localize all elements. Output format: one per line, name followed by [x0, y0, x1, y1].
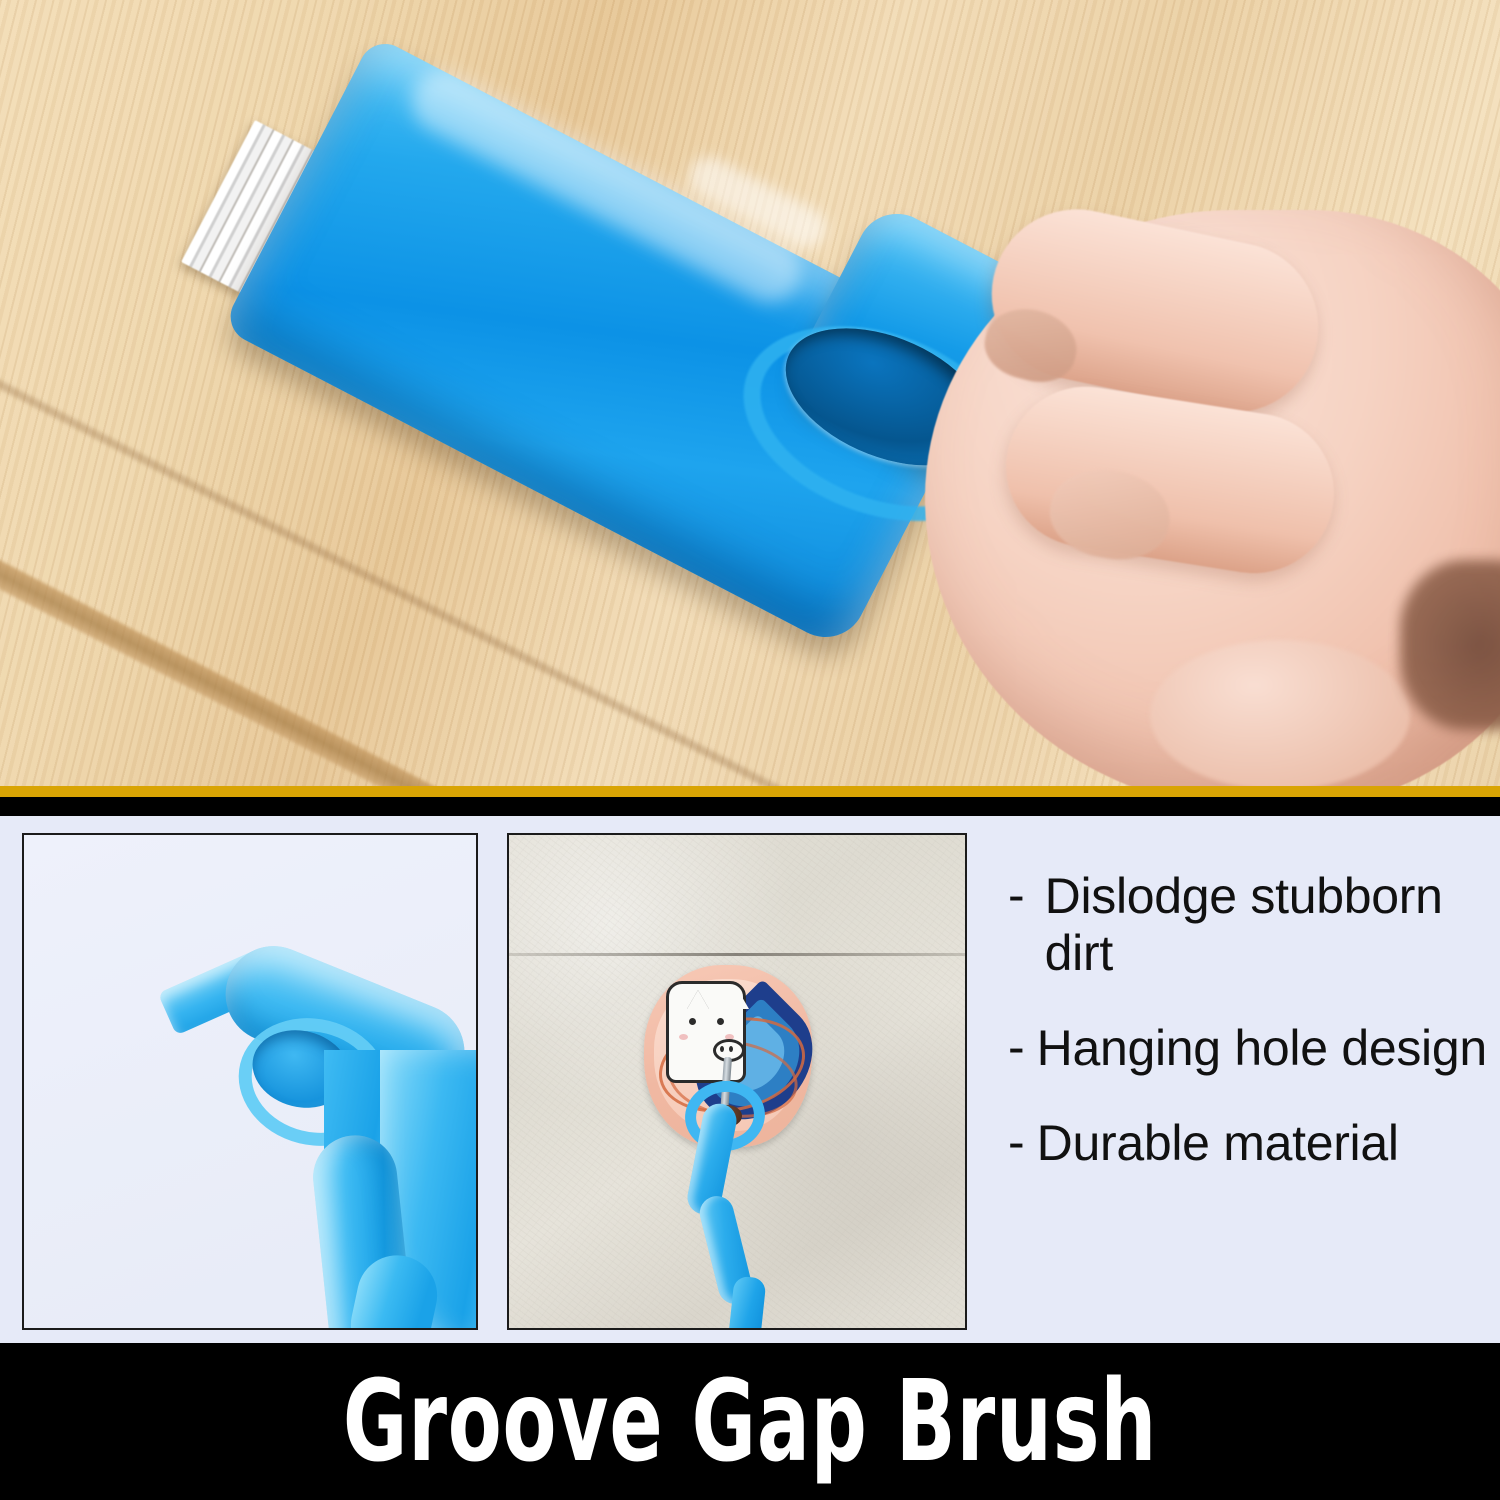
pig-ear-right — [727, 990, 749, 1009]
feature-list: - Dislodge stubborn dirt - Hanging hole … — [1008, 868, 1494, 1210]
panel-hanging-hook — [507, 833, 967, 1330]
pig-eye-left — [689, 1018, 696, 1025]
panel-handle-closeup — [22, 833, 478, 1330]
knuckle — [1150, 640, 1410, 786]
pig-nostril-right — [729, 1046, 733, 1052]
feature-text: Hanging hole design — [1037, 1020, 1487, 1077]
pig-blush-left — [679, 1034, 688, 1040]
bullet-dash-icon: - — [1008, 1115, 1025, 1170]
product-title: Groove Gap Brush — [165, 1343, 1335, 1500]
pig-ear-left — [687, 990, 709, 1009]
feature-item: - Dislodge stubborn dirt — [1008, 868, 1494, 982]
pig-eye-right — [717, 1018, 724, 1025]
feature-item: - Hanging hole design — [1008, 1020, 1494, 1077]
bullet-dash-icon: - — [1008, 868, 1025, 923]
shadow-corner — [1400, 560, 1500, 730]
black-divider-bar — [0, 797, 1500, 816]
feature-text: Durable material — [1037, 1115, 1399, 1172]
pig-icon — [666, 981, 746, 1083]
footer-bar: Groove Gap Brush — [0, 1343, 1500, 1500]
bullet-dash-icon: - — [1008, 1020, 1025, 1075]
tile-grout-line — [509, 953, 965, 956]
pig-nostril-left — [720, 1046, 724, 1052]
gold-divider-bar — [0, 786, 1500, 797]
features-section: - Dislodge stubborn dirt - Hanging hole … — [0, 816, 1500, 1343]
hero-photo — [0, 0, 1500, 786]
feature-text: Dislodge stubborn dirt — [1045, 868, 1494, 982]
product-poster: - Dislodge stubborn dirt - Hanging hole … — [0, 0, 1500, 1500]
feature-item: - Durable material — [1008, 1115, 1494, 1172]
